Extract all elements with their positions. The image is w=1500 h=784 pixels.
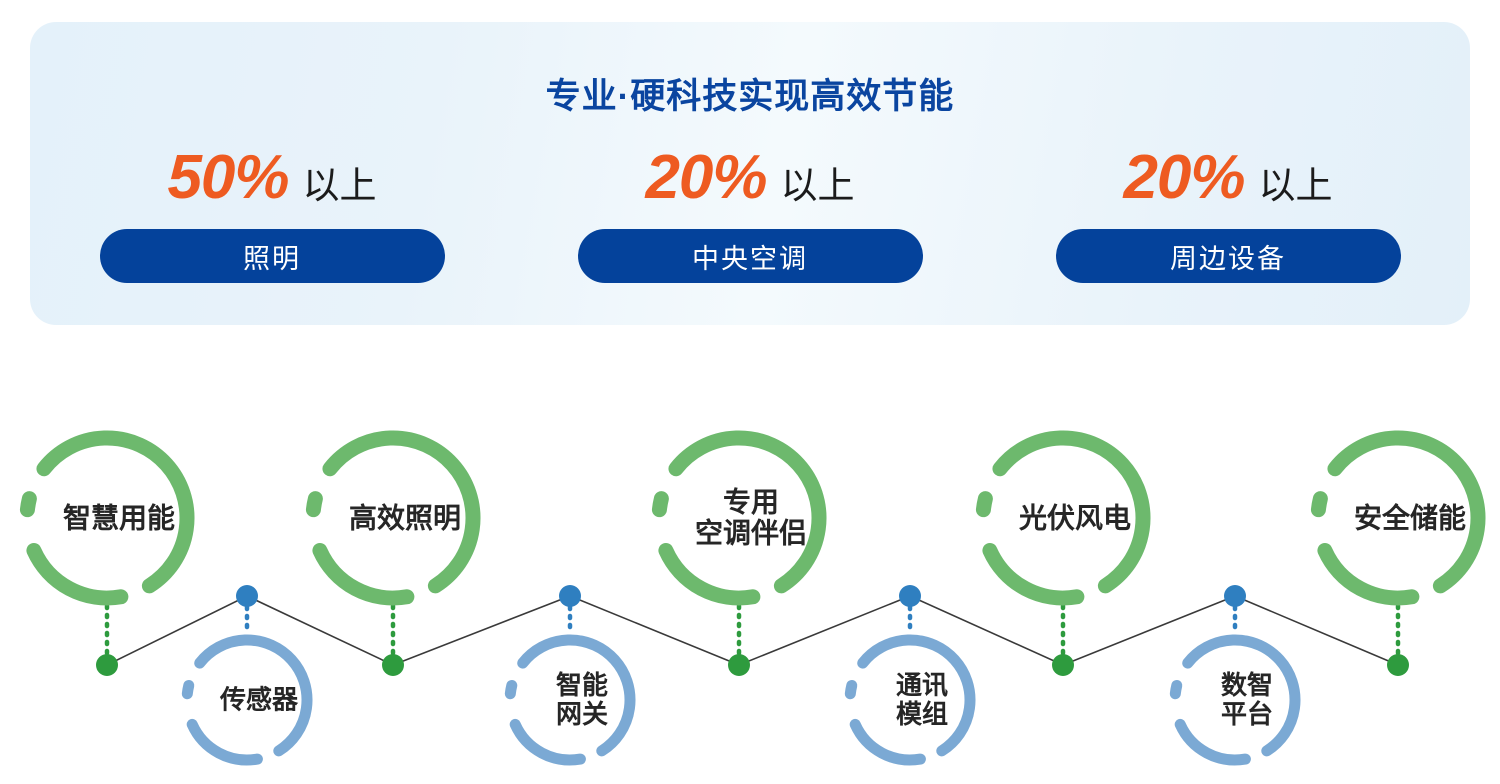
node-label-top-3: 专用空调伴侣 <box>695 487 807 550</box>
stat-suffix: 以上 <box>303 167 377 204</box>
vertex-dot-green-3 <box>728 654 750 676</box>
vertex-dot-blue-1 <box>236 585 258 607</box>
ring-arc <box>1325 551 1412 598</box>
vertex-dot-green-1 <box>96 654 118 676</box>
ring-arc <box>855 724 920 760</box>
node-label-line: 智能 <box>556 671 608 700</box>
stat-suffix: 以上 <box>781 167 855 204</box>
node-label-bottom-3: 通讯模组 <box>896 671 948 729</box>
stat-value: 20% <box>645 147 766 209</box>
stat-figure: 20% 以上 <box>1123 147 1332 223</box>
node-label-line: 传感器 <box>220 685 298 714</box>
connector-polyline-group <box>107 596 1398 665</box>
ring-arc <box>34 551 121 598</box>
stat-pill-central-ac[interactable]: 中央空调 <box>578 229 923 283</box>
vertex-dot-group <box>96 585 1409 676</box>
ring-arc <box>850 685 851 693</box>
ring-arc <box>983 499 985 510</box>
ring-arc <box>1180 724 1245 760</box>
node-label-line: 网关 <box>556 700 608 729</box>
node-label-line: 安全储能 <box>1354 502 1466 533</box>
stat-value: 20% <box>1123 147 1244 209</box>
ring-arc <box>666 551 753 598</box>
ring-arc <box>192 724 257 760</box>
stat-pill-lighting[interactable]: 照明 <box>100 229 445 283</box>
stats-row: 50% 以上 照明 20% 以上 中央空调 20% 以上 周边设备 <box>86 147 1414 312</box>
node-label-bottom-2: 智能网关 <box>556 671 608 729</box>
ring-arc <box>1175 685 1176 693</box>
stem-dotted-group <box>107 606 1398 654</box>
vertex-dot-blue-2 <box>559 585 581 607</box>
ring-arc <box>515 724 580 760</box>
node-label-line: 平台 <box>1221 700 1273 729</box>
node-label-line: 光伏风电 <box>1019 502 1131 533</box>
stat-pill-peripherals[interactable]: 周边设备 <box>1056 229 1401 283</box>
node-label-line: 高效照明 <box>349 502 461 533</box>
node-label-bottom-1: 传感器 <box>220 685 298 714</box>
stat-value: 50% <box>167 147 288 209</box>
node-label-line: 专用 <box>695 487 807 518</box>
vertex-dot-blue-4 <box>1224 585 1246 607</box>
stat-figure: 20% 以上 <box>645 147 854 223</box>
stat-item-peripherals: 20% 以上 周边设备 <box>1042 147 1414 283</box>
node-label-top-4: 光伏风电 <box>1019 502 1131 533</box>
ring-arc <box>27 499 29 510</box>
stats-card: 专业·硬科技实现高效节能 50% 以上 照明 20% 以上 中央空调 20% <box>30 22 1470 325</box>
ring-arc <box>313 499 315 510</box>
ring-arc <box>320 551 407 598</box>
ring-arc <box>1318 499 1320 510</box>
vertex-dot-green-5 <box>1387 654 1409 676</box>
node-label-line: 模组 <box>896 700 948 729</box>
stat-suffix: 以上 <box>1259 167 1333 204</box>
stat-figure: 50% 以上 <box>167 147 376 223</box>
node-label-line: 通讯 <box>896 671 948 700</box>
node-label-bottom-4: 数智平台 <box>1221 671 1273 729</box>
ring-arc <box>187 685 188 693</box>
node-label-line: 数智 <box>1221 671 1273 700</box>
vertex-dot-green-2 <box>382 654 404 676</box>
node-label-top-1: 智慧用能 <box>63 502 175 533</box>
zigzag-connector <box>107 596 1398 665</box>
ring-arc <box>990 551 1077 598</box>
node-label-top-5: 安全储能 <box>1354 502 1466 533</box>
ring-arc <box>659 499 661 510</box>
ring-arc <box>510 685 511 693</box>
node-label-line: 空调伴侣 <box>695 518 807 549</box>
vertex-dot-green-4 <box>1052 654 1074 676</box>
vertex-dot-blue-3 <box>899 585 921 607</box>
stat-item-lighting: 50% 以上 照明 <box>86 147 458 283</box>
page-root: 专业·硬科技实现高效节能 50% 以上 照明 20% 以上 中央空调 20% <box>0 0 1500 784</box>
stat-item-central-ac: 20% 以上 中央空调 <box>564 147 936 283</box>
node-label-line: 智慧用能 <box>63 502 175 533</box>
stats-title: 专业·硬科技实现高效节能 <box>30 68 1470 119</box>
node-label-top-2: 高效照明 <box>349 502 461 533</box>
